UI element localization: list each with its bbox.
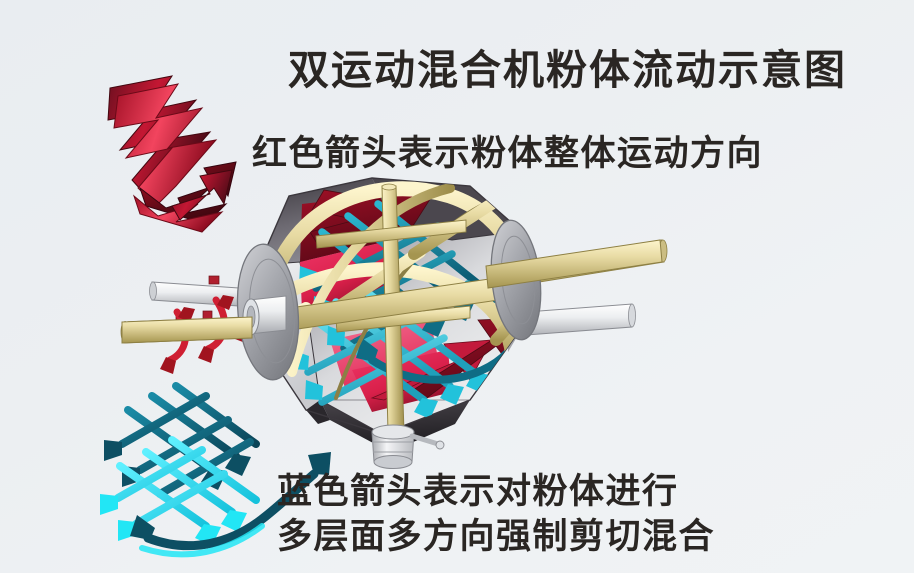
legend-red-label: 红色箭头表示粉体整体运动方向 (252, 125, 763, 176)
slide-canvas: 双运动混合机粉体流动示意图 红色箭头表示粉体整体运动方向 蓝色箭头表示对粉体进行… (0, 0, 914, 573)
legend-blue-label-line1: 蓝色箭头表示对粉体进行 (277, 463, 679, 514)
legend-blue-label-line2: 多层面多方向强制剪切混合 (277, 508, 715, 559)
page-title: 双运动混合机粉体流动示意图 (288, 36, 847, 96)
